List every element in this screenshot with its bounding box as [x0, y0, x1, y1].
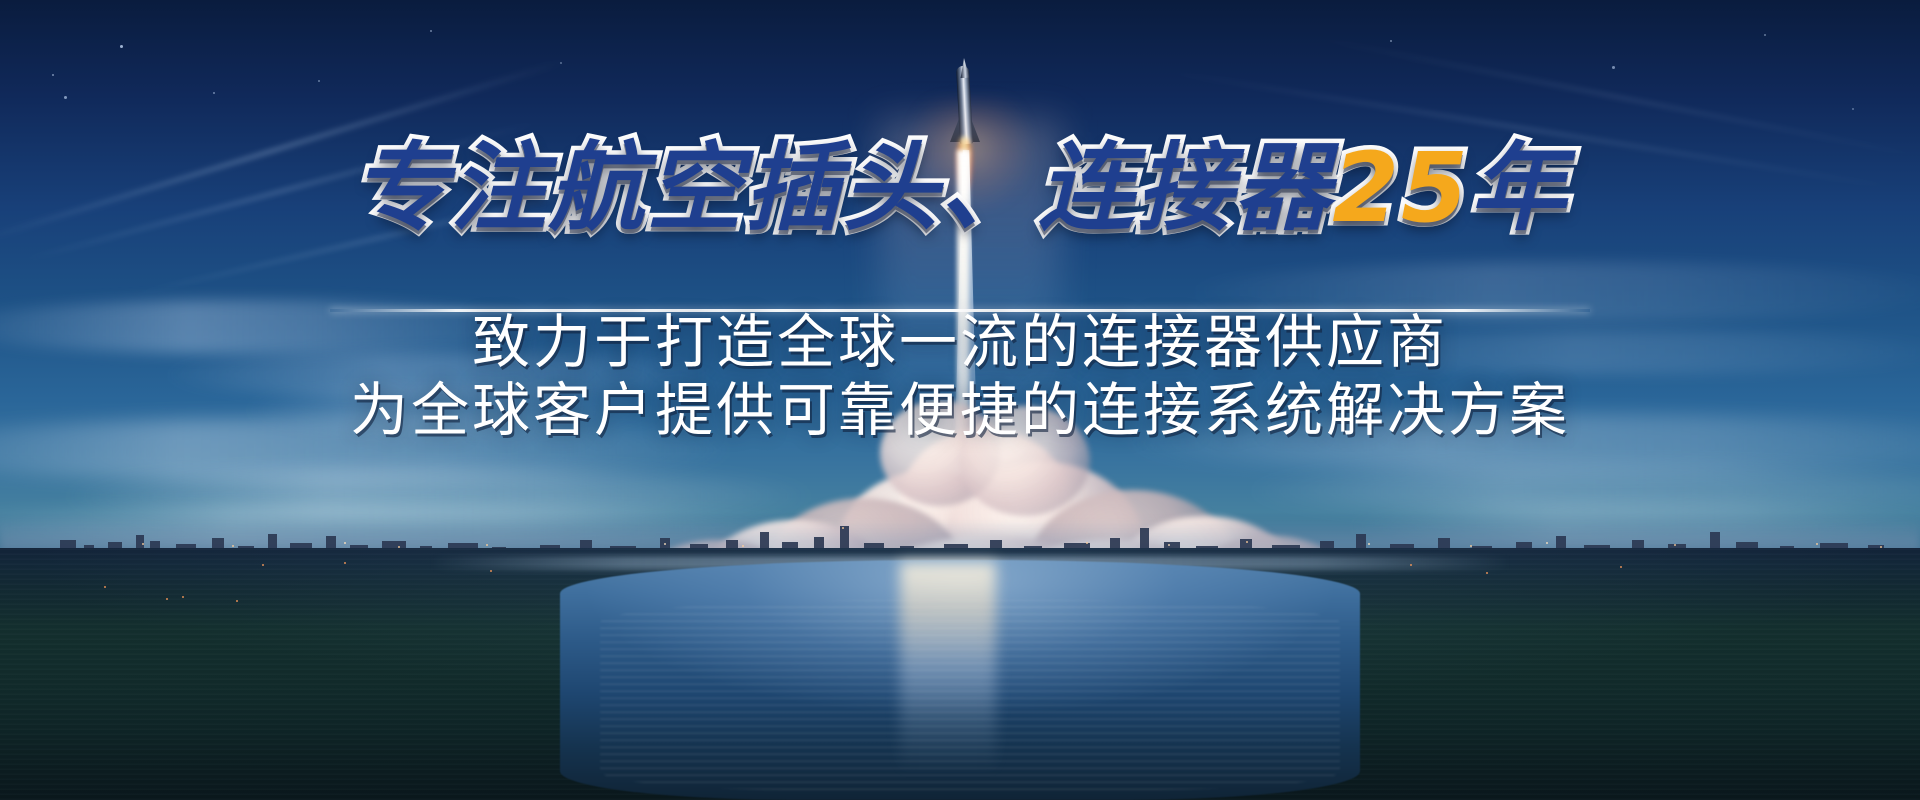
subtitle-line-2: 为全球客户提供可靠便捷的连接系统解决方案 — [0, 363, 1920, 447]
headline-years-highlight: 25 — [1332, 140, 1470, 236]
page-title: 专注航空插头、连接器25年 — [0, 140, 1920, 236]
banner-content: 专注航空插头、连接器25年 致力于打造全球一流的连接器供应商 为全球客户提供可靠… — [0, 0, 1920, 800]
headline-part-1: 专注航空插头、连接器 — [352, 140, 1332, 236]
hero-banner: 专注航空插头、连接器25年 致力于打造全球一流的连接器供应商 为全球客户提供可靠… — [0, 0, 1920, 800]
headline-part-2: 年 — [1470, 140, 1568, 236]
